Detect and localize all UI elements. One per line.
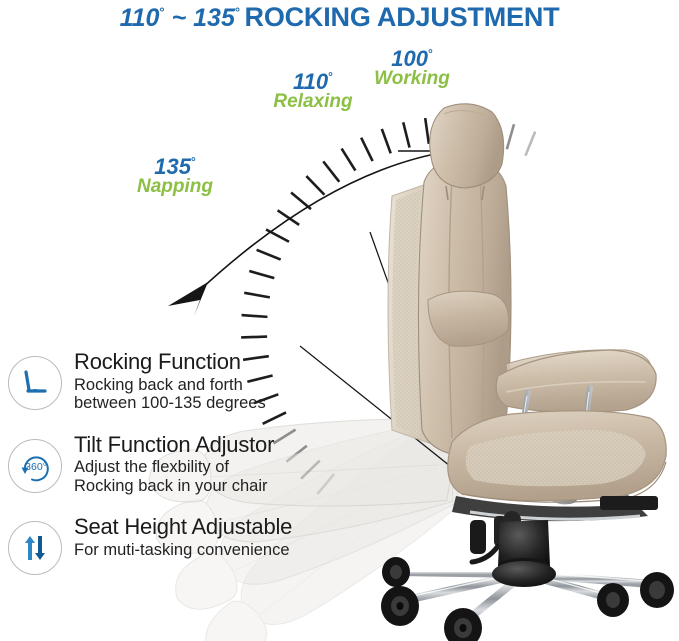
- callout-relaxing: 110° Relaxing: [248, 70, 378, 112]
- feature-seat-height: Seat Height Adjustable For muti-tasking …: [8, 515, 353, 575]
- callout-angle-value: 135°: [110, 155, 240, 178]
- feature-description: For muti-tasking convenience: [74, 541, 292, 559]
- feature-text: Rocking Function Rocking back and forth …: [74, 350, 266, 413]
- recline-angle-icon-badge: [8, 356, 62, 410]
- feature-desc-line: Adjust the flexbility of: [74, 458, 274, 476]
- degree-symbol: °: [428, 47, 433, 61]
- title-text: ROCKING ADJUSTMENT: [245, 2, 560, 32]
- degree-symbol: °: [328, 70, 333, 84]
- feature-text: Tilt Function Adjustor Adjust the flexbi…: [74, 433, 274, 496]
- headrest: [430, 104, 504, 188]
- height-adjust-arrows-icon: [19, 532, 51, 564]
- feature-title: Rocking Function: [74, 350, 266, 374]
- feature-desc-line: Rocking back in your chair: [74, 477, 274, 495]
- feature-desc-line: Rocking back and forth: [74, 376, 266, 394]
- feature-rocking-function: Rocking Function Rocking back and forth …: [8, 350, 353, 413]
- rotate-360-icon: 360°: [16, 449, 54, 483]
- feature-text: Seat Height Adjustable For muti-tasking …: [74, 515, 292, 559]
- degree-symbol: °: [191, 155, 196, 169]
- rotate-360-label: 360°: [25, 461, 47, 473]
- lumbar-bolster: [428, 291, 509, 346]
- feature-title: Tilt Function Adjustor: [74, 433, 274, 457]
- degree-symbol: °: [235, 5, 240, 20]
- sweep-arrowhead: [168, 282, 208, 316]
- rotate-360-icon-badge: 360°: [8, 439, 62, 493]
- office-chair: [381, 104, 674, 641]
- degree-symbol: °: [159, 5, 164, 20]
- feature-desc-line: For muti-tasking convenience: [74, 541, 292, 559]
- callout-angle-value: 100°: [352, 47, 472, 70]
- callout-mode-label: Napping: [110, 177, 240, 197]
- callout-mode-label: Relaxing: [248, 92, 378, 112]
- recline-angle-icon: [18, 366, 52, 400]
- page-title: 110° ~ 135° ROCKING ADJUSTMENT: [0, 2, 679, 33]
- callout-napping: 135° Napping: [110, 155, 240, 197]
- feature-description: Rocking back and forth between 100-135 d…: [74, 376, 266, 413]
- product-infographic: 110° ~ 135° ROCKING ADJUSTMENT 100° Work…: [0, 0, 679, 641]
- callout-angle-value: 110°: [248, 70, 378, 93]
- height-adjust-arrows-icon-badge: [8, 521, 62, 575]
- title-angle-range: 110° ~ 135°: [120, 4, 241, 32]
- feature-tilt-adjustor: 360° Tilt Function Adjustor Adjust the f…: [8, 433, 353, 496]
- feature-desc-line: between 100-135 degrees: [74, 394, 266, 412]
- feature-description: Adjust the flexbility of Rocking back in…: [74, 458, 274, 495]
- feature-title: Seat Height Adjustable: [74, 515, 292, 539]
- feature-list: Rocking Function Rocking back and forth …: [8, 350, 353, 595]
